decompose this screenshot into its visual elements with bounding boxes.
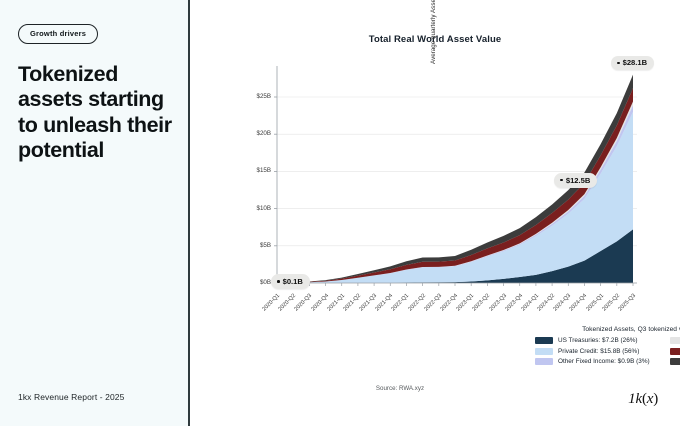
chart-source: Source: RWA.xyz (190, 385, 610, 392)
data-callout: $0.1B (271, 274, 310, 289)
legend-swatch-icon (535, 337, 553, 344)
legend-title: Tokenized Assets, Q3 tokenized value (% … (535, 326, 680, 333)
slide: Growth drivers Tokenized assets starting… (0, 0, 680, 426)
legend-swatch-icon (670, 337, 680, 344)
y-tick-label: $0B (241, 279, 271, 286)
legend-label: Private Credit: $15.8B (56%) (558, 348, 639, 355)
legend-item[interactable]: Other Fixed Income: $0.9B (3%) (535, 358, 660, 365)
legend-label: Other Fixed Income: $0.9B (3%) (558, 358, 650, 365)
callout-label: $12.5B (566, 176, 591, 185)
y-tick-label: $5B (241, 242, 271, 249)
legend-swatch-icon (670, 358, 680, 365)
chart-legend: Tokenized Assets, Q3 tokenized value (% … (535, 326, 680, 365)
callout-label: $0.1B (283, 277, 303, 286)
callout-dot-icon (617, 62, 620, 65)
legend-item[interactable]: Stocks: $0.5B (2%) (670, 337, 680, 344)
y-tick-label: $15B (241, 167, 271, 174)
data-callout: $12.5B (554, 173, 597, 188)
y-tick-label: $25B (241, 93, 271, 100)
legend-item[interactable]: Others: $1.8B (7%) (670, 358, 680, 365)
legend-item[interactable]: Private Credit: $15.8B (56%) (535, 348, 660, 355)
legend-swatch-icon (535, 348, 553, 355)
page-title: Tokenized assets starting to unleash the… (18, 62, 172, 163)
left-panel: Growth drivers Tokenized assets starting… (0, 0, 190, 426)
y-tick-label: $10B (241, 205, 271, 212)
data-callout: $28.1B (611, 56, 654, 71)
chart-panel: Total Real World Asset Value Average qua… (190, 0, 680, 426)
legend-swatch-icon (535, 358, 553, 365)
legend-item[interactable]: US Treasuries: $7.2B (26%) (535, 337, 660, 344)
callout-label: $28.1B (623, 58, 648, 67)
growth-drivers-badge: Growth drivers (18, 24, 98, 44)
legend-swatch-icon (670, 348, 680, 355)
callout-dot-icon (277, 280, 280, 283)
y-tick-label: $20B (241, 130, 271, 137)
legend-item[interactable]: Commodities: $1.8B (7%) (670, 348, 680, 355)
report-footer: 1kx Revenue Report - 2025 (18, 392, 124, 402)
brand-logo: 1k(x) (628, 391, 658, 408)
callout-dot-icon (560, 179, 563, 182)
legend-label: US Treasuries: $7.2B (26%) (558, 337, 638, 344)
legend-items: US Treasuries: $7.2B (26%)Stocks: $0.5B … (535, 337, 680, 365)
